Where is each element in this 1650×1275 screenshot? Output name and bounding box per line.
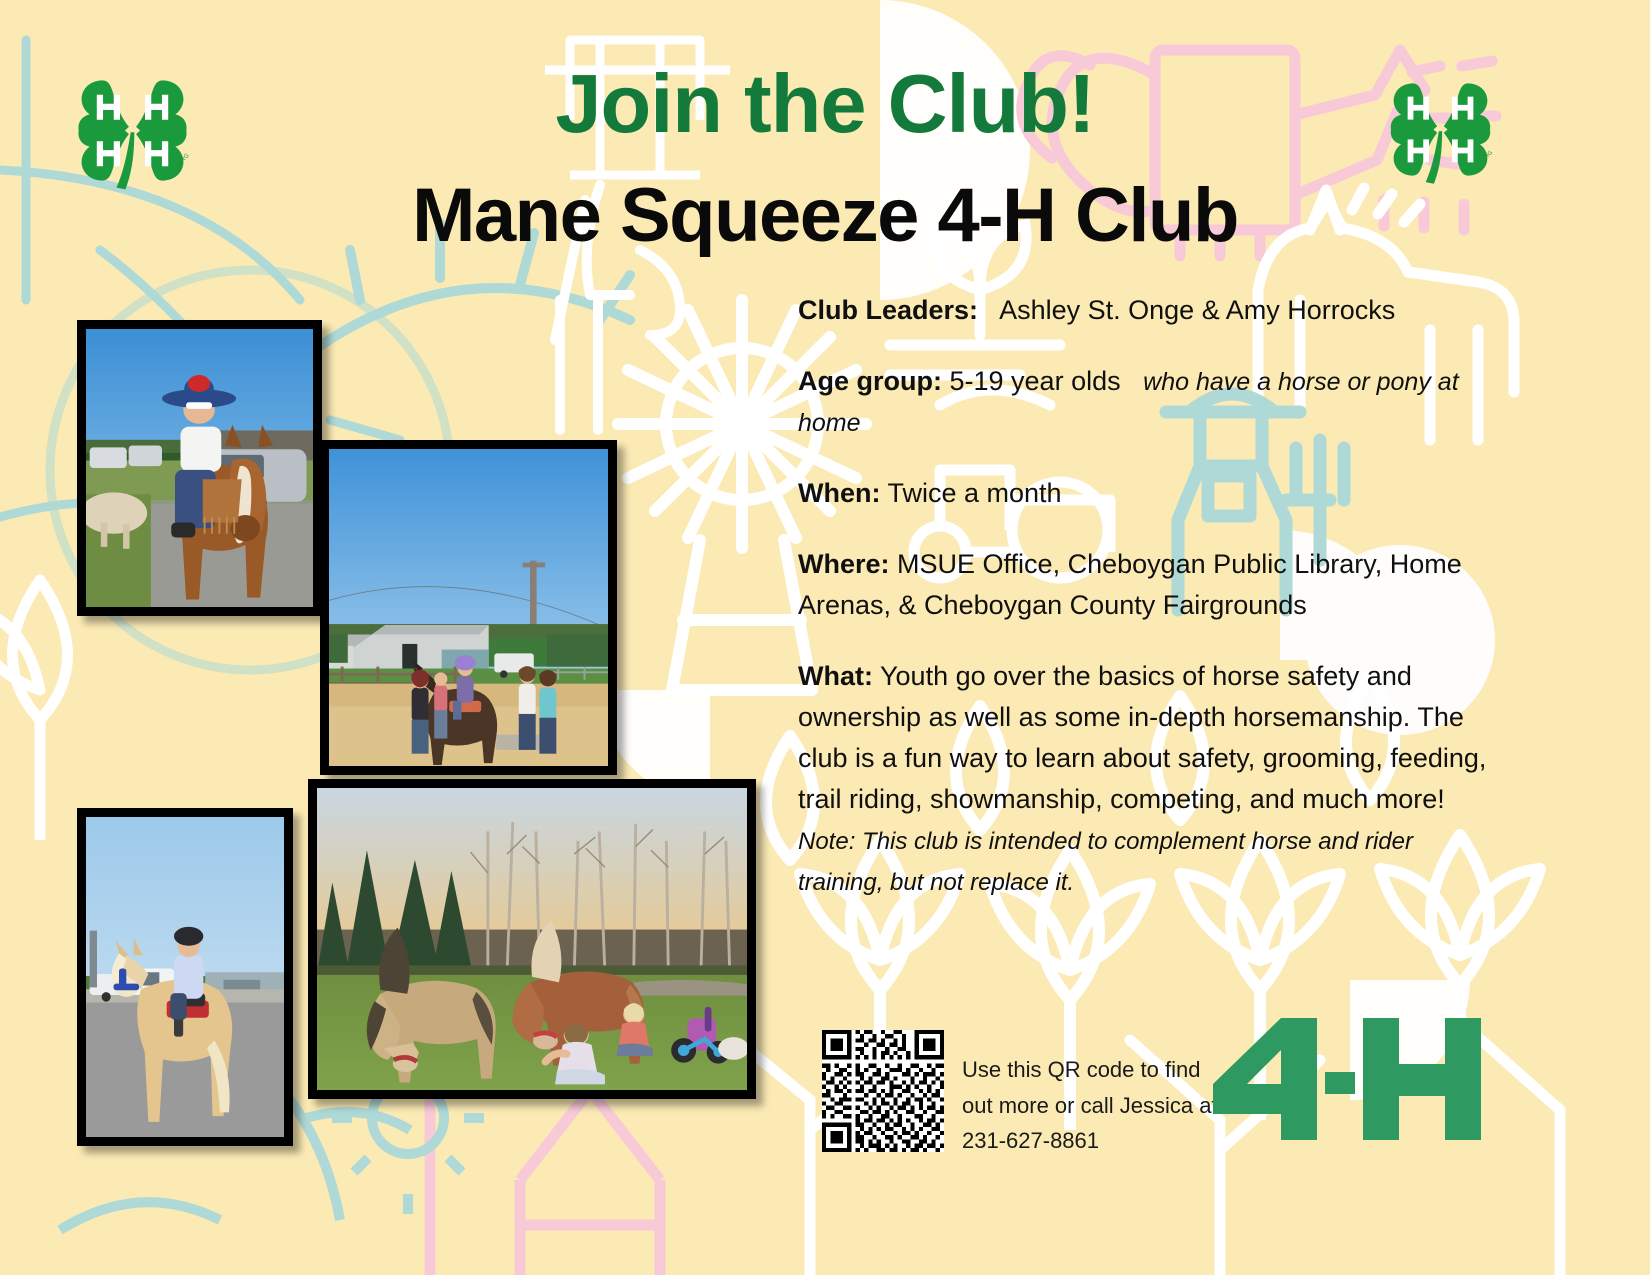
photo-horses-grazing: [308, 779, 756, 1099]
when-value: Twice a month: [888, 478, 1062, 508]
qr-line-2: out more or call Jessica at: [962, 1088, 1218, 1124]
qr-line-1: Use this QR code to find: [962, 1052, 1218, 1088]
leaders-value: Ashley St. Onge & Amy Horrocks: [999, 295, 1395, 325]
qr-code-icon[interactable]: [822, 1030, 944, 1152]
detail-row-age: Age group: 5-19 year olds who have a hor…: [798, 361, 1498, 443]
when-label: When:: [798, 478, 880, 508]
where-value: MSUE Office, Cheboygan Public Library, H…: [798, 549, 1462, 620]
detail-row-leaders: Club Leaders: Ashley St. Onge & Amy Horr…: [798, 290, 1498, 331]
leaders-label: Club Leaders:: [798, 295, 978, 325]
page-title-subhead: Mane Squeeze 4-H Club: [0, 178, 1650, 254]
photo-arena-lesson: [320, 440, 617, 775]
detail-row-what: What: Youth go over the basics of horse …: [798, 656, 1498, 902]
details-copy-block: Club Leaders: Ashley St. Onge & Amy Horr…: [798, 290, 1498, 902]
photo-rider-red-hat: [77, 320, 322, 616]
qr-instructions: Use this QR code to find out more or cal…: [962, 1030, 1218, 1159]
age-value: 5-19 year olds: [950, 366, 1121, 396]
what-value: Youth go over the basics of horse safety…: [798, 661, 1486, 814]
flyer-poster: 4-H.ORG 4-H.ORG Join the Club! Mane Sque…: [0, 0, 1650, 1275]
detail-row-when: When: Twice a month: [798, 473, 1498, 514]
qr-contact-block: Use this QR code to find out more or cal…: [822, 1030, 1218, 1159]
where-label: Where:: [798, 549, 890, 579]
page-title-headline: Join the Club!: [0, 62, 1650, 145]
detail-row-where: Where: MSUE Office, Cheboygan Public Lib…: [798, 544, 1498, 626]
4h-wordmark-logo: [1213, 1018, 1491, 1140]
age-label: Age group:: [798, 366, 942, 396]
photo-palomino-rider: [77, 808, 293, 1146]
what-note: Note: This club is intended to complemen…: [798, 828, 1413, 896]
qr-phone-number: 231-627-8861: [962, 1123, 1218, 1159]
what-label: What:: [798, 661, 873, 691]
